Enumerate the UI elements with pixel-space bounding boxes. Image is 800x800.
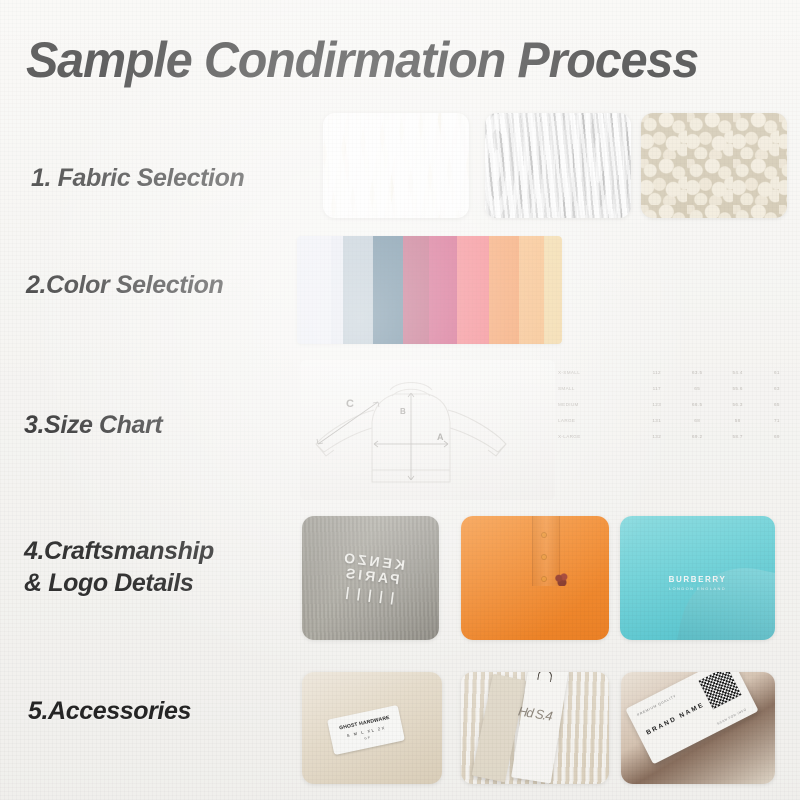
- polo-button-1-icon: [541, 532, 547, 538]
- grey-fabric-background: KENZO PARIS | | | | |: [302, 516, 439, 640]
- step-label-craftsmanship: 4.Craftsmanship & Logo Details: [24, 535, 214, 599]
- teal-garment-fabric: BURBERRY LONDON ENGLAND: [620, 516, 775, 640]
- step-label-color-selection: 2.Color Selection: [26, 269, 223, 301]
- craftsmanship-label-line2: & Logo Details: [24, 567, 214, 599]
- swatch-pale-tan[interactable]: [544, 236, 562, 344]
- color-swatch-strip[interactable]: [297, 236, 562, 344]
- swatch-crimson-magenta[interactable]: [403, 236, 429, 344]
- size-table-size-name: MEDIUM: [558, 396, 637, 412]
- size-chart-panel: A B C X-SMALL11263.554.461SMALL1176555.6…: [300, 360, 796, 500]
- care-label-care-code: GP: [364, 735, 371, 740]
- size-table-size-name: X-LARGE: [558, 429, 637, 445]
- qr-tag-small-top: PREMIUM QUALITY: [637, 694, 678, 717]
- size-table-measurement: 112: [637, 364, 677, 380]
- size-table-measurement: 61: [758, 364, 796, 380]
- size-table-measurement: 58: [717, 413, 757, 429]
- size-table-measurement: 68: [677, 413, 717, 429]
- craft-image-teal-logo[interactable]: BURBERRY LONDON ENGLAND: [620, 516, 775, 640]
- burberry-logo-line1: BURBERRY: [669, 575, 727, 584]
- craftsmanship-label-line1: 4.Craftsmanship: [24, 535, 214, 567]
- swatch-orange[interactable]: [489, 236, 519, 344]
- sweatshirt-technical-drawing: A B C: [300, 360, 555, 500]
- size-table-measurement: 123: [637, 396, 677, 412]
- size-table-row: LARGE131685871: [558, 413, 796, 429]
- woven-care-label: GHOST HARDWARE S M L XL 2X GP: [327, 705, 405, 755]
- size-table-measurement: 132: [637, 429, 677, 445]
- page-title: Sample Condirmation Process: [26, 33, 763, 87]
- swatch-raspberry[interactable]: [429, 236, 457, 344]
- size-table-row: X-SMALL11263.554.461: [558, 364, 796, 380]
- burberry-logo-line2: LONDON ENGLAND: [669, 586, 727, 591]
- size-chart-table: X-SMALL11263.554.461SMALL1176555.663MEDI…: [558, 364, 796, 496]
- size-table-measurement: 55.6: [717, 380, 757, 396]
- size-table-measurement: 56.3: [717, 396, 757, 412]
- size-table-row: SMALL1176555.663: [558, 380, 796, 396]
- size-table-measurement: 117: [637, 380, 677, 396]
- dimension-label-b: B: [400, 407, 406, 416]
- hoodie-fabric-background: GHOST HARDWARE S M L XL 2X GP: [302, 672, 442, 784]
- swatch-coral-red[interactable]: [457, 236, 489, 344]
- fabric-image-cable-knit[interactable]: [323, 113, 469, 218]
- size-table-measurement: 63: [758, 380, 796, 396]
- knit-fabric-background: Hd S.4: [461, 672, 609, 784]
- size-table-measurement: 65: [677, 380, 717, 396]
- swatch-deep-teal-blue[interactable]: [373, 236, 403, 344]
- embroidered-crest-icon: [554, 573, 570, 586]
- fabric-image-boucle[interactable]: [641, 113, 787, 218]
- size-table-row: X-LARGE13269.258.769: [558, 429, 796, 445]
- brand-hang-tag: PREMIUM QUALITY BRAND NAME SCAN FOR INFO: [626, 672, 759, 764]
- size-table-row: MEDIUM12366.556.365: [558, 396, 796, 412]
- sweatshirt-outline-svg: A B C: [300, 360, 555, 500]
- orange-polo-fabric: [461, 516, 609, 640]
- cable-knit-texture: [323, 113, 469, 218]
- dimension-label-a: A: [437, 432, 444, 442]
- size-table-measurement: 71: [758, 413, 796, 429]
- boucle-texture: [641, 113, 787, 218]
- size-table-measurement: 63.5: [677, 364, 717, 380]
- wavy-marble-texture: [485, 113, 631, 218]
- size-table-measurement: 69.2: [677, 429, 717, 445]
- size-table-measurement: 69: [758, 429, 796, 445]
- craft-image-orange-polo[interactable]: [461, 516, 609, 640]
- qr-tag-background: PREMIUM QUALITY BRAND NAME SCAN FOR INFO: [621, 672, 775, 784]
- step-label-fabric-selection: 1. Fabric Selection: [31, 162, 244, 194]
- step-label-accessories: 5.Accessories: [28, 695, 191, 727]
- swatch-pale-lavender[interactable]: [331, 236, 343, 344]
- qr-tag-small-bottom: SCAN FOR INFO: [717, 707, 748, 725]
- accessory-image-care-label[interactable]: GHOST HARDWARE S M L XL 2X GP: [302, 672, 442, 784]
- size-table-measurement: 54.4: [717, 364, 757, 380]
- accessory-image-hang-tags[interactable]: Hd S.4: [461, 672, 609, 784]
- polo-button-3-icon: [541, 576, 547, 582]
- swatch-light-orange[interactable]: [519, 236, 544, 344]
- qr-code-icon: [699, 672, 742, 709]
- size-table-size-name: X-SMALL: [558, 364, 637, 380]
- size-table-measurement: 65: [758, 396, 796, 412]
- polo-button-2-icon: [541, 554, 547, 560]
- fabric-image-wavy-marble[interactable]: [485, 113, 631, 218]
- dimension-label-c: C: [346, 398, 354, 410]
- burberry-logo-print: BURBERRY LONDON ENGLAND: [669, 575, 727, 591]
- size-table-measurement: 66.5: [677, 396, 717, 412]
- swatch-ice-white[interactable]: [297, 236, 331, 344]
- size-table-size-name: SMALL: [558, 380, 637, 396]
- swatch-light-blue-grey[interactable]: [343, 236, 373, 344]
- craft-image-kenzo-print[interactable]: KENZO PARIS | | | | |: [302, 516, 439, 640]
- size-table-measurement: 131: [637, 413, 677, 429]
- accessory-image-qr-tag[interactable]: PREMIUM QUALITY BRAND NAME SCAN FOR INFO: [621, 672, 775, 784]
- step-label-size-chart: 3.Size Chart: [24, 409, 162, 441]
- size-table-measurement: 58.7: [717, 429, 757, 445]
- kenzo-logo-print: KENZO PARIS | | | | |: [336, 550, 405, 605]
- size-table-size-name: LARGE: [558, 413, 637, 429]
